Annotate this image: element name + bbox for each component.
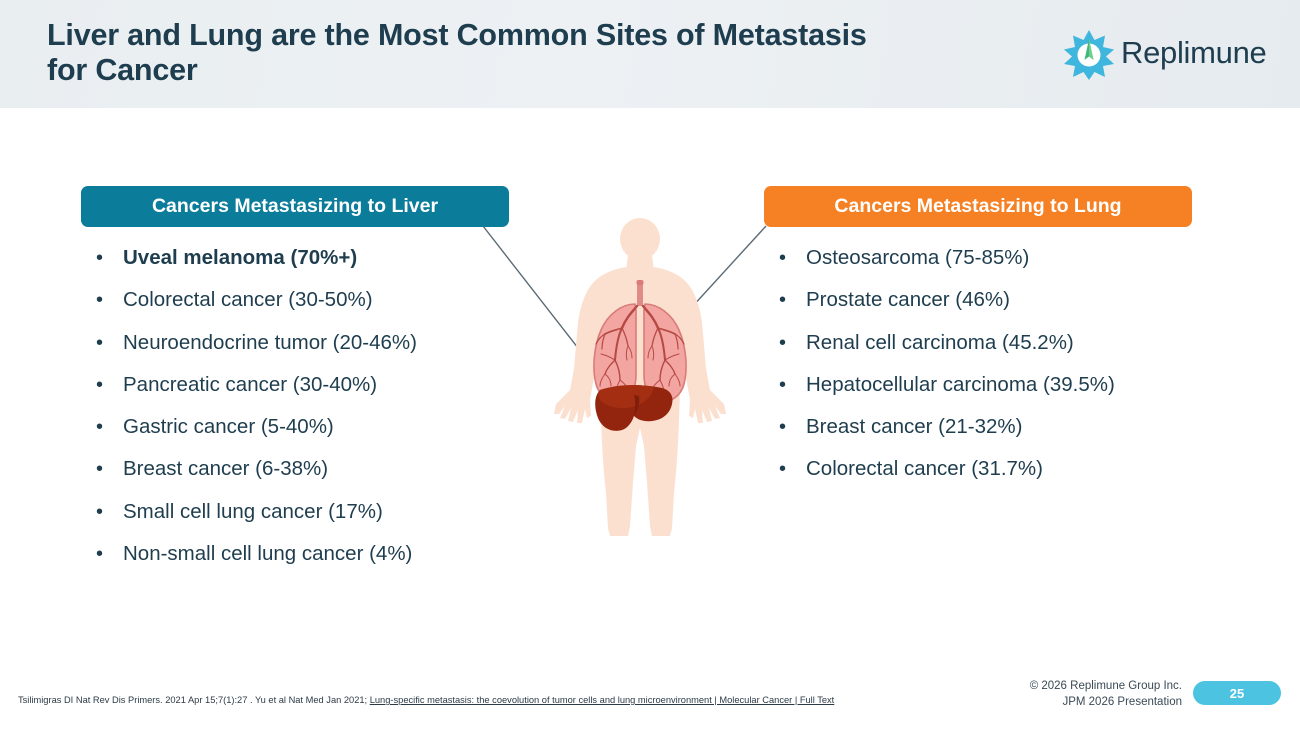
bullet-dot-icon: • [92, 499, 123, 525]
citation-source-link[interactable]: Lung-specific metastasis: the coevolutio… [370, 695, 835, 705]
list-item: •Neuroendocrine tumor (20-46%) [92, 330, 522, 372]
panel-heading-liver-label: Cancers Metastasizing to Liver [152, 195, 438, 218]
list-item-label: Non-small cell lung cancer (4%) [123, 541, 412, 567]
starburst-icon [1063, 29, 1115, 81]
bullet-dot-icon: • [92, 456, 123, 482]
bullet-dot-icon: • [775, 372, 806, 398]
list-item: •Renal cell carcinoma (45.2%) [775, 330, 1205, 372]
list-item-label: Pancreatic cancer (30-40%) [123, 372, 377, 398]
panel-heading-lung: Cancers Metastasizing to Lung [764, 186, 1192, 227]
list-item-label: Colorectal cancer (31.7%) [806, 456, 1043, 482]
list-item: •Osteosarcoma (75-85%) [775, 245, 1205, 287]
bullet-dot-icon: • [775, 330, 806, 356]
bullet-dot-icon: • [92, 287, 123, 313]
list-item: •Uveal melanoma (70%+) [92, 245, 522, 287]
citation-footnote: Tsilimigras DI Nat Rev Dis Primers. 2021… [18, 694, 898, 707]
list-item-label: Neuroendocrine tumor (20-46%) [123, 330, 417, 356]
list-item-label: Osteosarcoma (75-85%) [806, 245, 1029, 271]
list-item-label: Gastric cancer (5-40%) [123, 414, 334, 440]
list-item: •Hepatocellular carcinoma (39.5%) [775, 372, 1205, 414]
list-item-label: Small cell lung cancer (17%) [123, 499, 383, 525]
list-item-label: Prostate cancer (46%) [806, 287, 1010, 313]
list-item: •Colorectal cancer (30-50%) [92, 287, 522, 329]
list-item: •Gastric cancer (5-40%) [92, 414, 522, 456]
list-item-label: Breast cancer (6-38%) [123, 456, 328, 482]
bullet-dot-icon: • [92, 414, 123, 440]
list-item-label: Renal cell carcinoma (45.2%) [806, 330, 1074, 356]
bullet-dot-icon: • [775, 414, 806, 440]
citation-plain-text: Tsilimigras DI Nat Rev Dis Primers. 2021… [18, 695, 370, 705]
bullet-dot-icon: • [775, 287, 806, 313]
bullet-dot-icon: • [92, 245, 123, 271]
page-number-label: 25 [1230, 686, 1244, 701]
list-item-label: Breast cancer (21-32%) [806, 414, 1022, 440]
list-item: •Breast cancer (6-38%) [92, 456, 522, 498]
bullet-dot-icon: • [92, 330, 123, 356]
figure-head [620, 218, 660, 260]
list-item: •Prostate cancer (46%) [775, 287, 1205, 329]
panel-heading-lung-label: Cancers Metastasizing to Lung [834, 195, 1121, 218]
slide-canvas: Liver and Lung are the Most Common Sites… [0, 0, 1300, 731]
copyright-notice: © 2026 Replimune Group Inc. JPM 2026 Pre… [880, 679, 1182, 710]
list-item-label: Uveal melanoma (70%+) [123, 245, 357, 271]
bullet-dot-icon: • [92, 541, 123, 567]
panel-heading-liver: Cancers Metastasizing to Liver [81, 186, 509, 227]
list-item: •Non-small cell lung cancer (4%) [92, 541, 522, 583]
list-item-label: Hepatocellular carcinoma (39.5%) [806, 372, 1115, 398]
bullet-dot-icon: • [775, 456, 806, 482]
human-body-illustration [540, 218, 740, 540]
brand-wordmark: Replimune [1121, 35, 1267, 71]
bullet-dot-icon: • [92, 372, 123, 398]
list-item: •Small cell lung cancer (17%) [92, 499, 522, 541]
page-title: Liver and Lung are the Most Common Sites… [47, 18, 1007, 88]
list-item: •Colorectal cancer (31.7%) [775, 456, 1205, 498]
bullet-dot-icon: • [775, 245, 806, 271]
list-item: •Breast cancer (21-32%) [775, 414, 1205, 456]
list-item: •Pancreatic cancer (30-40%) [92, 372, 522, 414]
replimune-logo: Replimune ® [1063, 28, 1273, 80]
lung-metastasis-list: •Osteosarcoma (75-85%)•Prostate cancer (… [775, 245, 1205, 499]
list-item-label: Colorectal cancer (30-50%) [123, 287, 373, 313]
page-number-badge: 25 [1193, 681, 1281, 705]
liver-metastasis-list: •Uveal melanoma (70%+)•Colorectal cancer… [92, 245, 522, 583]
